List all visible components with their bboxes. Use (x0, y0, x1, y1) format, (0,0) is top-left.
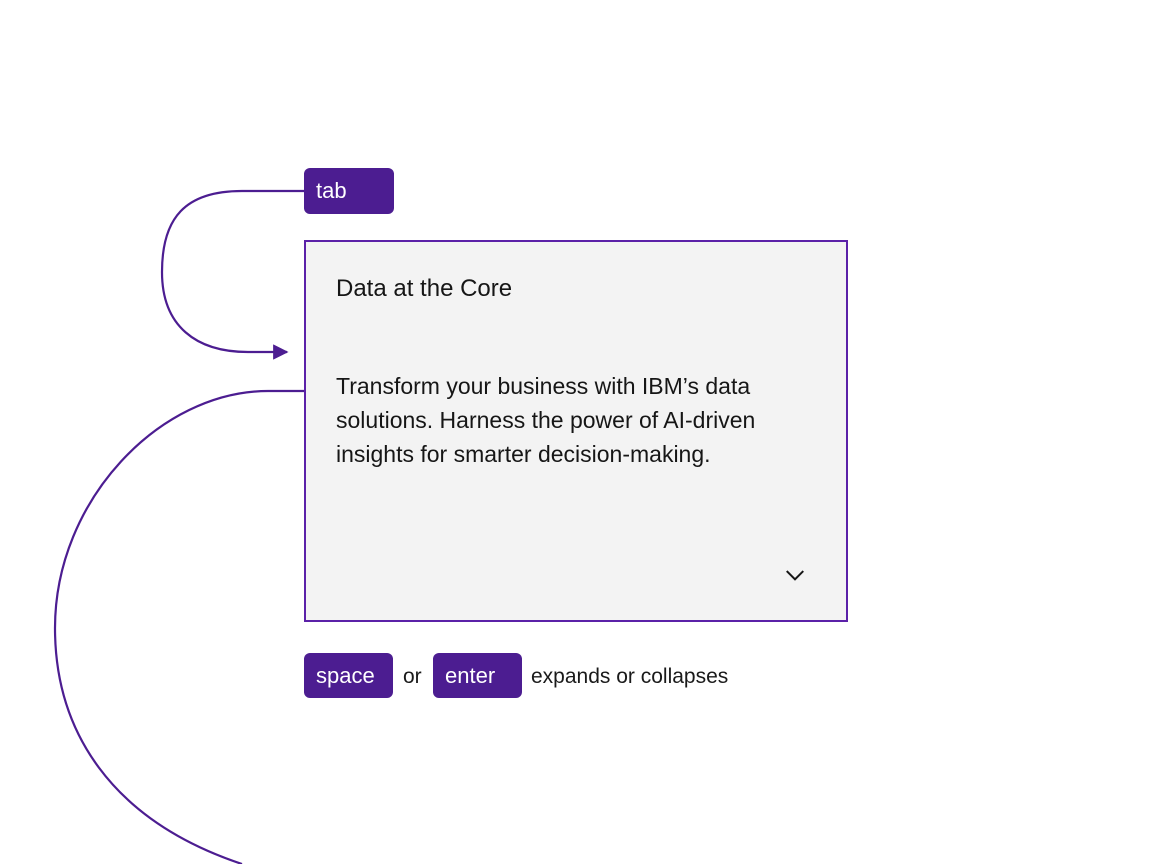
key-badge-space[interactable]: space (304, 653, 393, 698)
key-badge-enter-label: enter (445, 665, 495, 687)
key-badge-tab[interactable]: tab (304, 168, 394, 214)
caption-action-description: expands or collapses (531, 666, 728, 687)
key-badge-enter[interactable]: enter (433, 653, 522, 698)
diagram-canvas: tab Data at the Core Transform your busi… (0, 0, 1152, 864)
connector-card-to-keys (55, 391, 304, 864)
key-badge-tab-label: tab (316, 180, 347, 202)
accordion-body-text: Transform your business with IBM’s data … (336, 369, 756, 471)
accordion-title: Data at the Core (336, 275, 512, 304)
chevron-down-icon[interactable] (782, 562, 808, 588)
connector-tab-to-card (162, 191, 304, 352)
key-badge-space-label: space (316, 665, 375, 687)
caption-or: or (403, 666, 422, 687)
accordion-card[interactable]: Data at the Core Transform your business… (304, 240, 848, 622)
